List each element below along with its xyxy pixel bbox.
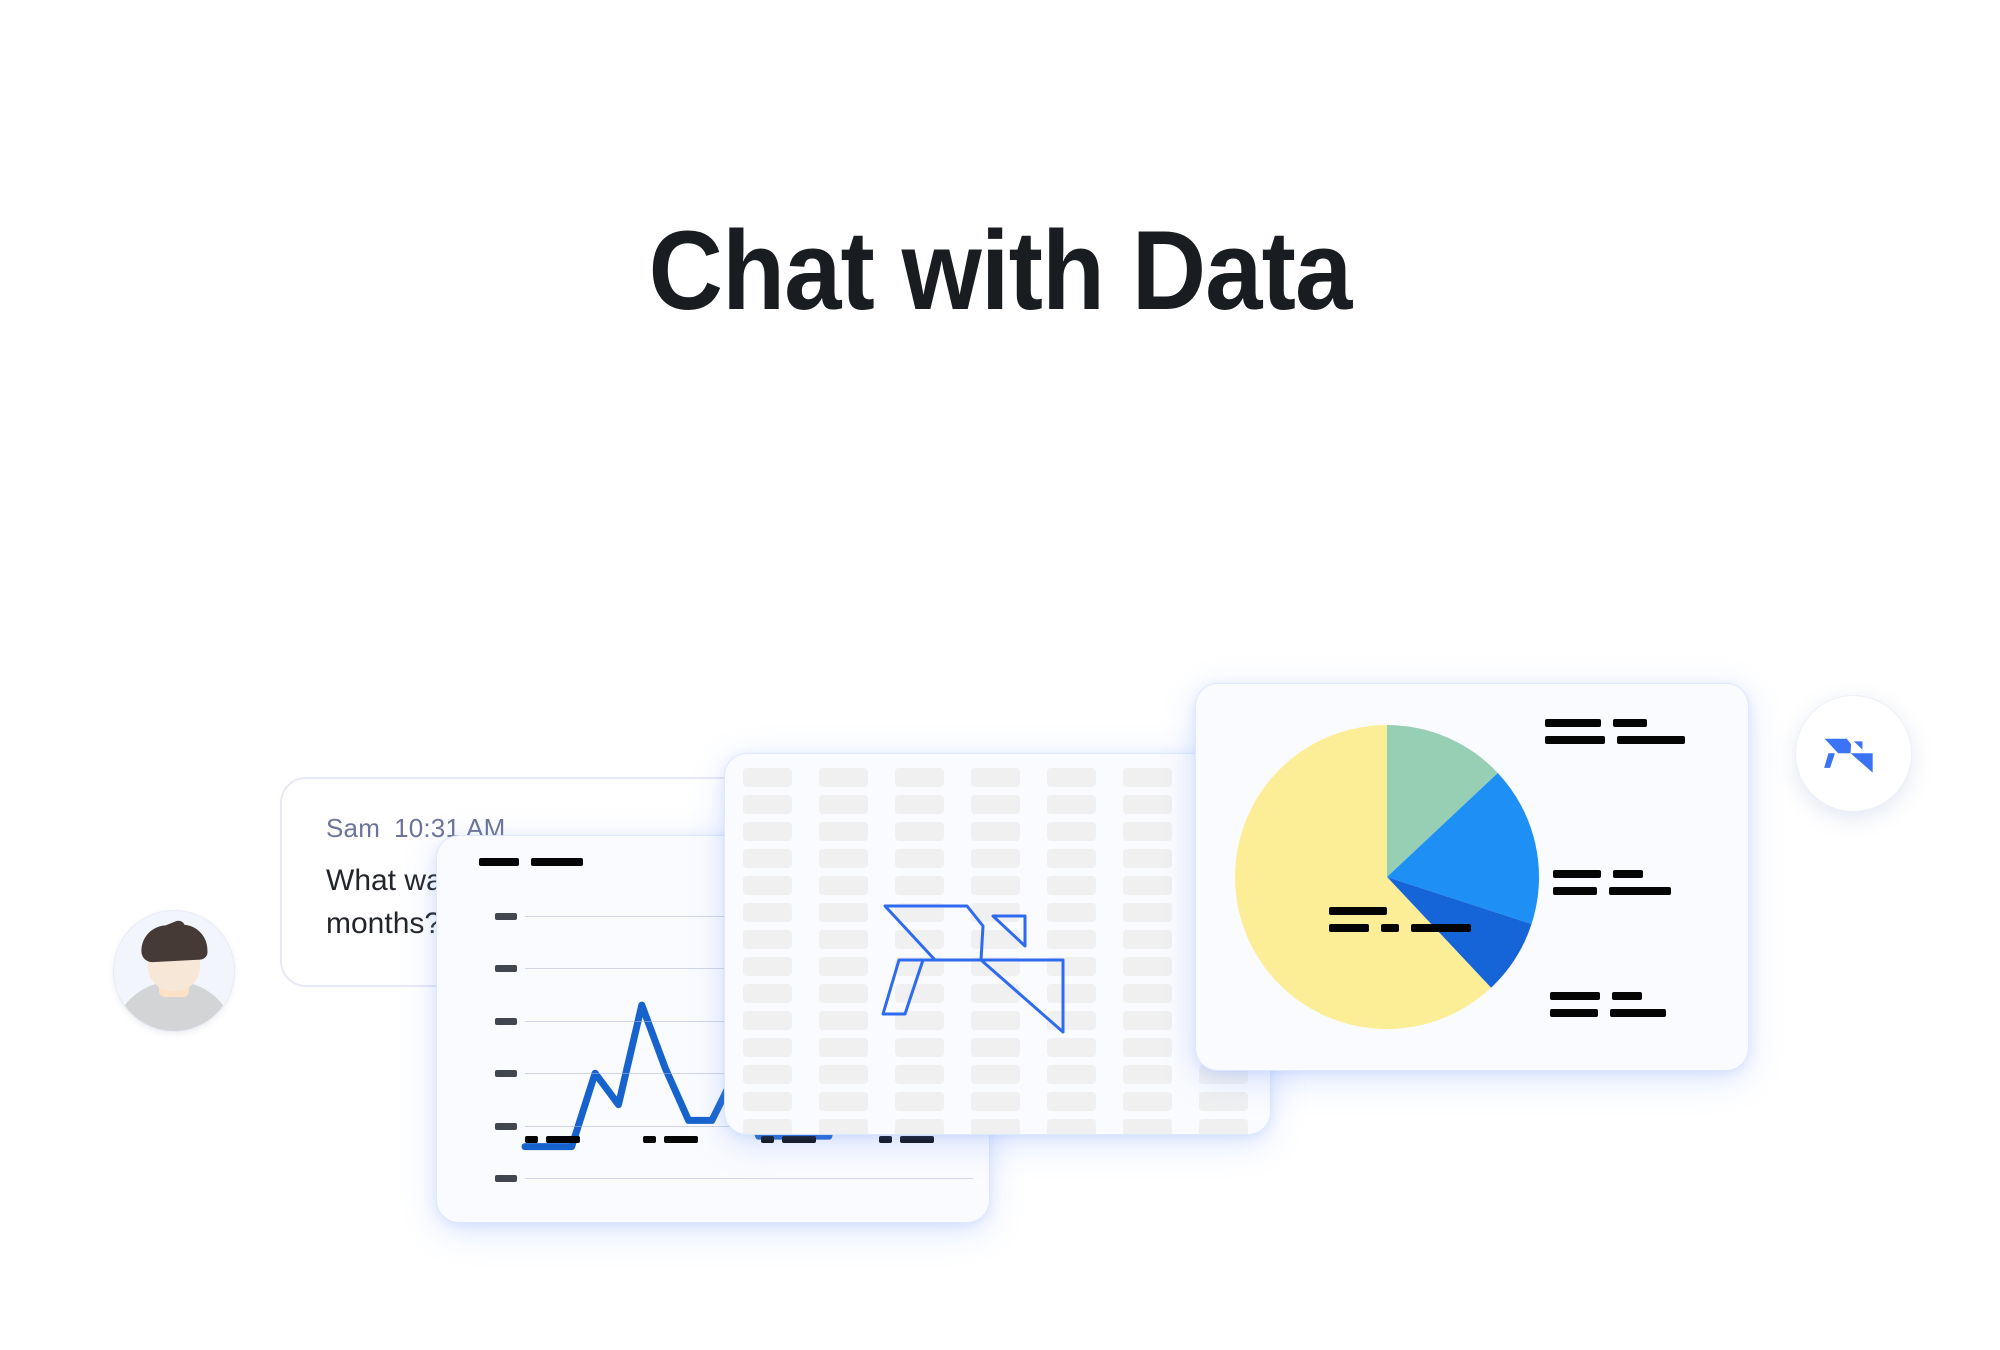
- page-root: Chat with Data Sam10:31 AM What was the …: [0, 0, 2000, 1350]
- x-axis-tick-label: [525, 1136, 580, 1143]
- brand-pinwheel-icon: [1822, 724, 1884, 782]
- table-cell-placeholder: [1047, 1065, 1096, 1084]
- table-cell-placeholder: [971, 1065, 1020, 1084]
- data-table-card[interactable]: [725, 754, 1270, 1134]
- table-cell-placeholder: [971, 1119, 1020, 1134]
- y-axis-tick: [495, 1123, 517, 1130]
- chat-message-row: Sam10:31 AM What was the average custome…: [0, 385, 2000, 645]
- legend-dash-row: [1553, 887, 1671, 895]
- table-cell-placeholder: [819, 957, 868, 976]
- table-cell-placeholder: [1047, 822, 1096, 841]
- table-cell-placeholder: [1123, 984, 1172, 1003]
- title-dash-1: [479, 858, 519, 866]
- table-cell-placeholder: [819, 1011, 868, 1030]
- legend-yellow: [1329, 907, 1471, 932]
- table-cell-placeholder: [819, 876, 868, 895]
- table-cell-placeholder: [1123, 1011, 1172, 1030]
- legend-dash: [1612, 992, 1642, 1000]
- legend-blue: [1553, 870, 1671, 895]
- legend-dash: [1553, 887, 1597, 895]
- table-cell-placeholder: [971, 795, 1020, 814]
- gridline: [525, 1178, 973, 1179]
- table-cell-placeholder: [819, 1119, 868, 1134]
- brand-logo-badge[interactable]: [1796, 696, 1911, 811]
- table-cell-placeholder: [1123, 930, 1172, 949]
- legend-dash: [1411, 924, 1471, 932]
- legend-dash-row: [1329, 924, 1471, 932]
- line-chart-title-placeholder: [479, 858, 583, 866]
- table-cell-placeholder: [895, 822, 944, 841]
- table-cell-placeholder: [819, 930, 868, 949]
- table-cell-placeholder: [743, 930, 792, 949]
- table-cell-placeholder: [743, 984, 792, 1003]
- y-axis-tick: [495, 913, 517, 920]
- table-cell-placeholder: [743, 876, 792, 895]
- table-cell-placeholder: [1123, 1119, 1172, 1134]
- legend-dash-row: [1550, 1009, 1666, 1017]
- x-axis-tick-label: [761, 1136, 816, 1143]
- legend-dash: [1617, 736, 1685, 744]
- table-cell-placeholder: [1047, 768, 1096, 787]
- table-cell-placeholder: [819, 822, 868, 841]
- table-cell-placeholder: [1047, 1119, 1096, 1134]
- table-cell-placeholder: [1123, 849, 1172, 868]
- legend-dash-row: [1545, 719, 1685, 727]
- table-cell-placeholder: [743, 1065, 792, 1084]
- legend-dash: [1553, 870, 1601, 878]
- table-cell-placeholder: [1123, 768, 1172, 787]
- table-cell-placeholder: [743, 957, 792, 976]
- legend-dash-row: [1550, 992, 1666, 1000]
- legend-dash-row: [1329, 907, 1471, 915]
- pie-chart-card[interactable]: [1196, 684, 1748, 1070]
- legend-darkblue: [1550, 992, 1666, 1017]
- table-cell-placeholder: [1047, 795, 1096, 814]
- legend-dash: [1329, 907, 1387, 915]
- table-cell-placeholder: [743, 822, 792, 841]
- table-cell-placeholder: [971, 822, 1020, 841]
- legend-dash: [1610, 1009, 1666, 1017]
- y-axis-tick: [495, 1175, 517, 1182]
- table-cell-placeholder: [819, 1038, 868, 1057]
- table-cell-placeholder: [743, 1038, 792, 1057]
- table-cell-placeholder: [743, 1119, 792, 1134]
- y-axis-tick: [495, 1070, 517, 1077]
- line-chart-x-axis-labels: [525, 1136, 985, 1156]
- table-cell-placeholder: [819, 1065, 868, 1084]
- y-axis-tick: [495, 1018, 517, 1025]
- table-cell-placeholder: [1123, 1038, 1172, 1057]
- table-cell-placeholder: [1123, 822, 1172, 841]
- table-cell-placeholder: [895, 1092, 944, 1111]
- table-cell-placeholder: [819, 903, 868, 922]
- legend-dash: [1329, 924, 1369, 932]
- table-cell-placeholder: [819, 1092, 868, 1111]
- table-cell-placeholder: [819, 768, 868, 787]
- title-dash-2: [531, 858, 583, 866]
- table-cell-placeholder: [1123, 903, 1172, 922]
- table-cell-placeholder: [895, 768, 944, 787]
- brand-pinwheel-icon: [875, 864, 1105, 1054]
- legend-dash: [1545, 719, 1601, 727]
- x-axis-tick-label: [879, 1136, 934, 1143]
- table-cell-placeholder: [1123, 1092, 1172, 1111]
- table-cell-placeholder: [743, 795, 792, 814]
- x-axis-tick-label: [643, 1136, 698, 1143]
- table-cell-placeholder: [743, 849, 792, 868]
- legend-dash-row: [1553, 870, 1671, 878]
- user-avatar-icon: [113, 910, 235, 1032]
- table-cell-placeholder: [1123, 795, 1172, 814]
- table-cell-placeholder: [1123, 957, 1172, 976]
- table-cell-placeholder: [743, 1011, 792, 1030]
- pie-chart-graphic: [1232, 722, 1542, 1032]
- legend-dash-row: [1545, 736, 1685, 744]
- table-cell-placeholder: [1199, 1092, 1248, 1111]
- table-cell-placeholder: [1047, 1092, 1096, 1111]
- table-cell-placeholder: [1199, 1119, 1248, 1134]
- legend-dash: [1550, 1009, 1598, 1017]
- message-author: Sam: [326, 813, 380, 843]
- legend-dash: [1545, 736, 1605, 744]
- table-cell-placeholder: [743, 903, 792, 922]
- legend-dash: [1550, 992, 1600, 1000]
- table-cell-placeholder: [1123, 876, 1172, 895]
- legend-green: [1545, 719, 1685, 744]
- table-cell-placeholder: [819, 849, 868, 868]
- table-cell-placeholder: [819, 795, 868, 814]
- table-cell-placeholder: [895, 795, 944, 814]
- page-title: Chat with Data: [80, 215, 1920, 327]
- legend-dash: [1613, 719, 1647, 727]
- table-cell-placeholder: [971, 768, 1020, 787]
- table-cell-placeholder: [819, 984, 868, 1003]
- legend-dash: [1609, 887, 1671, 895]
- table-cell-placeholder: [895, 1065, 944, 1084]
- table-cell-placeholder: [743, 768, 792, 787]
- table-cell-placeholder: [1123, 1065, 1172, 1084]
- legend-dash: [1613, 870, 1643, 878]
- y-axis-tick: [495, 965, 517, 972]
- table-cell-placeholder: [971, 1092, 1020, 1111]
- table-cell-placeholder: [743, 1092, 792, 1111]
- table-cell-placeholder: [895, 1119, 944, 1134]
- legend-dash: [1381, 924, 1399, 932]
